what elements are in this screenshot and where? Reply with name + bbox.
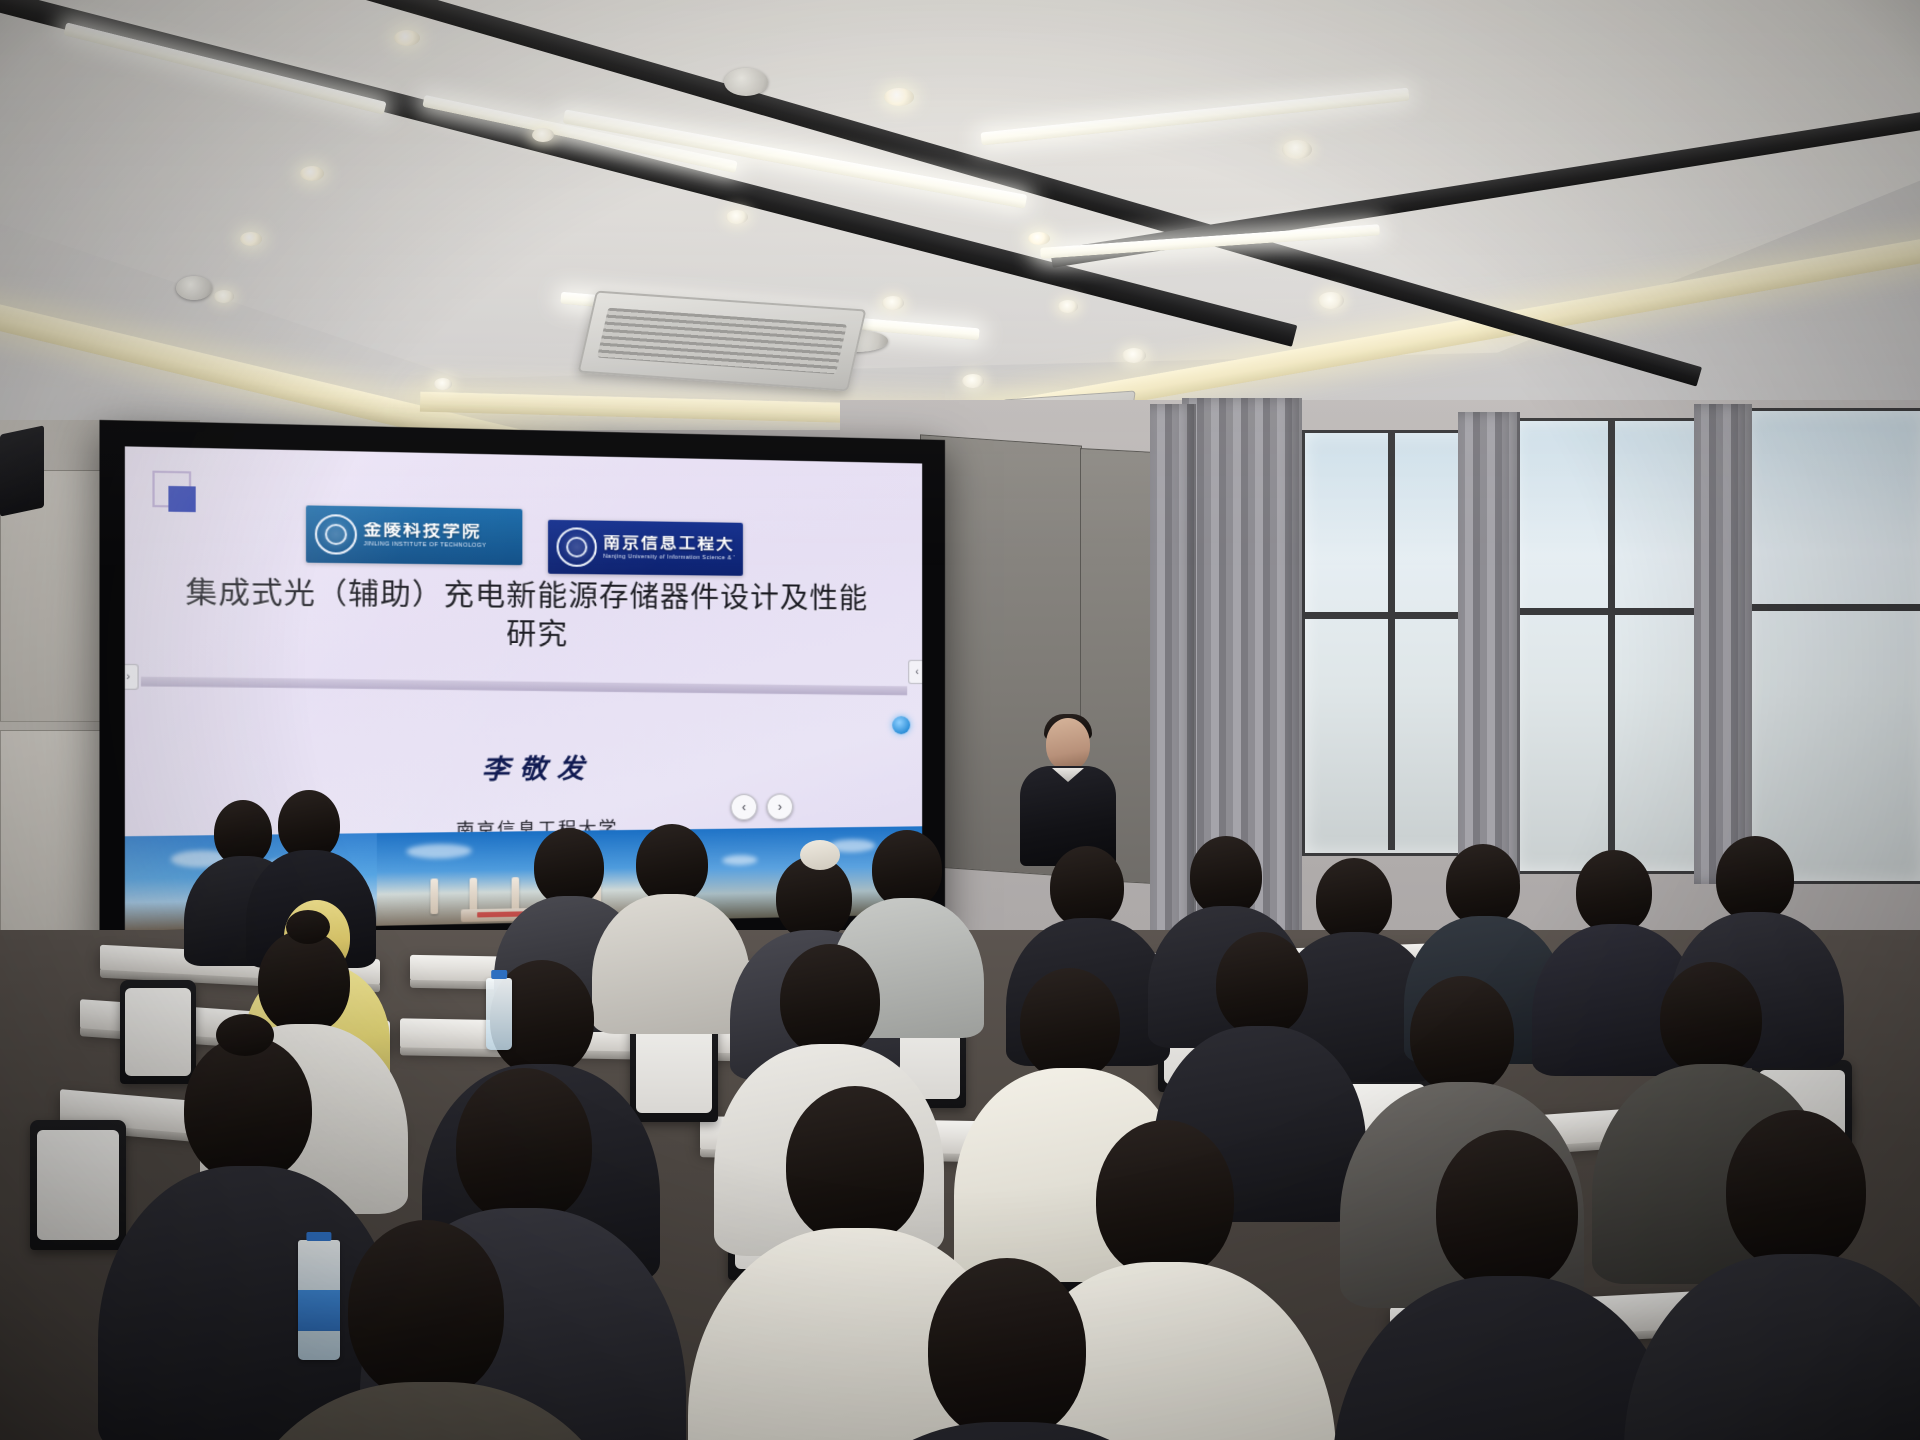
track-spot-2 [300, 166, 324, 181]
downlight-7 [532, 128, 554, 142]
presenter [1020, 718, 1116, 866]
slide-right-edge-tab[interactable]: ‹ [908, 660, 922, 684]
window-3-mullion [1744, 604, 1920, 611]
downlight-1 [1282, 140, 1312, 159]
jinling-logo-cn: 金陵科技学院 [364, 522, 487, 541]
curtain-right [1458, 412, 1520, 882]
water-bottle-mid [486, 978, 512, 1050]
slide-cursor-highlight [892, 716, 910, 734]
slide-title: 集成式光（辅助）充电新能源存储器件设计及性能研究 [184, 574, 869, 656]
window-1-post [1388, 430, 1395, 850]
smoke-detector-1 [724, 68, 768, 96]
water-bottle-front [298, 1240, 340, 1360]
track-spot-1 [394, 30, 420, 46]
downlight-2 [1318, 292, 1344, 309]
jinling-seal-icon [315, 514, 357, 555]
jinling-institute-of-technology-logo: 金陵科技学院 JINLING INSTITUTE OF TECHNOLOGY [306, 505, 522, 565]
nuist-seal-icon [557, 527, 597, 567]
track-spot-3 [240, 232, 262, 246]
smoke-detector-2 [176, 276, 212, 300]
window-2-post [1608, 418, 1615, 868]
jinling-logo-text: 金陵科技学院 JINLING INSTITUTE OF TECHNOLOGY [364, 522, 487, 549]
lecture-hall-photo: 金陵科技学院 JINLING INSTITUTE OF TECHNOLOGY 南… [0, 0, 1920, 1440]
downlight-9 [434, 378, 452, 390]
bottle-cap-icon-2 [491, 970, 507, 979]
left-wall-monitor [0, 425, 44, 516]
track-spot-5 [1028, 232, 1050, 245]
downlight-6 [726, 210, 748, 224]
downlight-5 [882, 296, 904, 310]
slide-author-name: 李敬发 [125, 746, 922, 790]
slide-decor-square-filled [168, 486, 195, 512]
curtain-far-right [1694, 404, 1752, 884]
nuist-logo: 南京信息工程大学 Nanjing University of Informati… [548, 520, 743, 576]
downlight-8 [214, 290, 234, 303]
slide-next-button[interactable]: › [767, 793, 794, 820]
presenter-head [1046, 718, 1090, 770]
downlight-3 [1122, 348, 1146, 363]
slide-nav-controls: ‹ › [731, 793, 794, 820]
curtain-fold [1150, 404, 1196, 944]
nuist-logo-text: 南京信息工程大学 Nanjing University of Informati… [603, 535, 734, 562]
ac-grille [597, 308, 847, 375]
window-2-mullion [1512, 608, 1722, 615]
slide-left-edge-tab[interactable]: › [125, 664, 139, 690]
window-3 [1744, 408, 1920, 884]
nuist-logo-en: Nanjing University of Information Scienc… [603, 554, 734, 561]
jinling-logo-en: JINLING INSTITUTE OF TECHNOLOGY [364, 542, 487, 550]
slide-prev-button[interactable]: ‹ [731, 794, 758, 821]
chair-1 [120, 980, 196, 1084]
nuist-logo-cn: 南京信息工程大学 [603, 535, 734, 553]
downlight-4 [962, 374, 984, 388]
slide-divider [141, 677, 907, 696]
chair-7 [30, 1120, 126, 1250]
bottle-label [298, 1290, 340, 1331]
bottle-cap-icon [306, 1232, 331, 1241]
downlight-10 [1058, 300, 1078, 313]
track-spot-4 [884, 88, 914, 106]
